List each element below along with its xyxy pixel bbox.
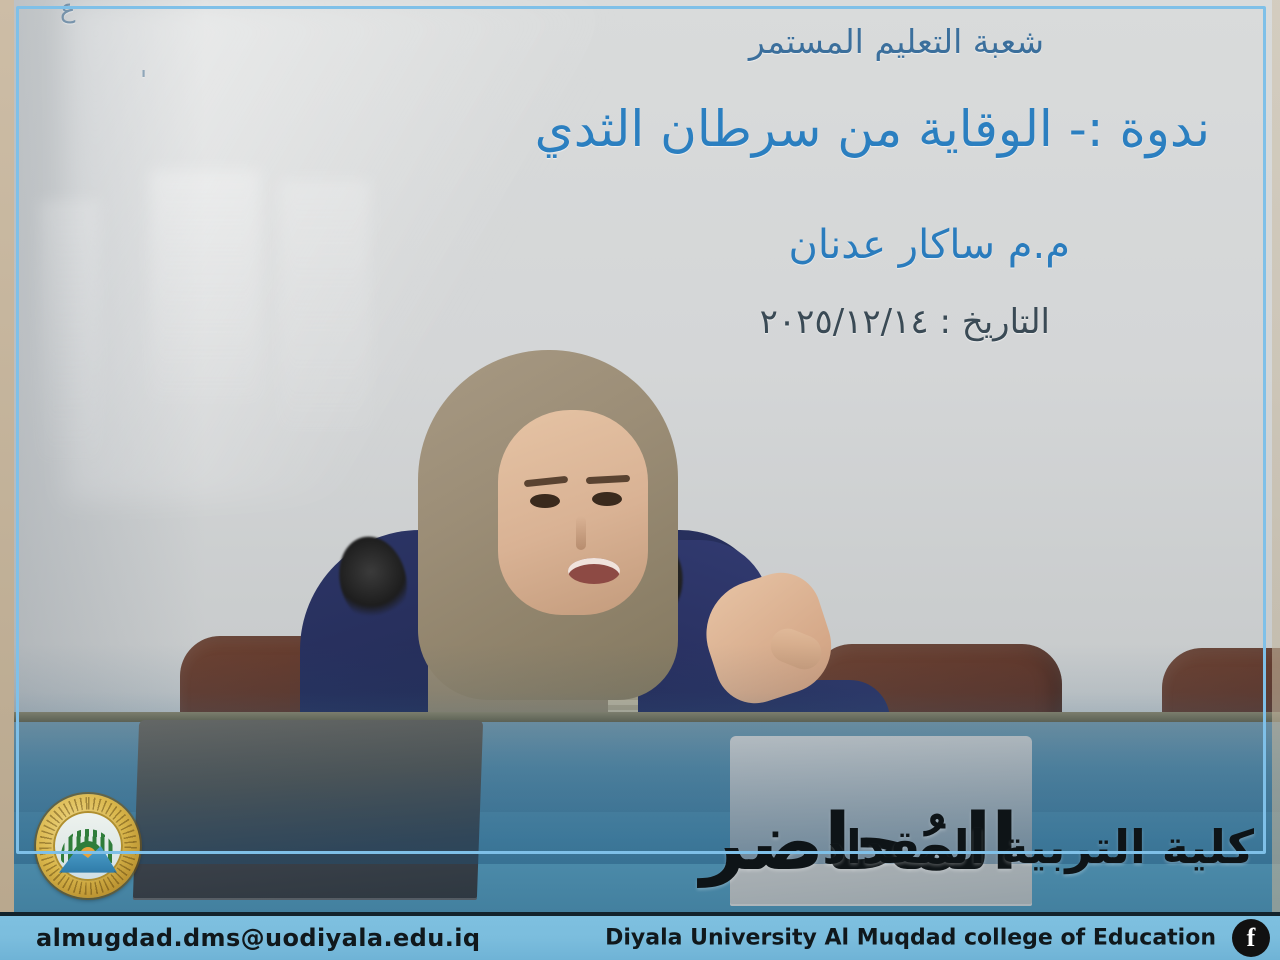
poster-left-margin [0,0,14,912]
facebook-icon[interactable]: f [1232,919,1270,957]
contact-email[interactable]: almugdad.dms@uodiyala.edu.iq [36,924,480,952]
institution-name: Diyala University Al Muqdad college of E… [605,926,1216,951]
board-lecturer-name: م.م ساكار عدنان [789,222,1070,268]
university-seal-logo [36,794,140,898]
eye-right [592,492,622,506]
event-photograph: ع ' شعبة التعليم المستمر ندوة :- الوقاية… [0,0,1280,912]
board-faint-tick: ' [140,66,147,96]
wall-reflection [150,170,260,400]
wall-reflection [40,200,100,460]
nose [576,516,586,550]
board-division-line: شعبة التعليم المستمر [749,22,1044,61]
facebook-glyph: f [1247,925,1256,951]
footer-bar: almugdad.dms@uodiyala.edu.iq Diyala Univ… [0,912,1280,960]
board-faint-mark: ع [60,0,76,24]
poster-right-margin [1272,0,1280,912]
event-poster: ع ' شعبة التعليم المستمر ندوة :- الوقاية… [0,0,1280,960]
board-seminar-title: ندوة :- الوقاية من سرطان الثدي [535,100,1210,158]
laptop-dark [133,720,483,900]
mouth [568,558,620,584]
face [498,410,648,615]
board-date-line: التاريخ : ٢٠٢٥/١٢/١٤ [760,302,1050,342]
eye-left [530,494,560,508]
seal-ring-lettering [39,797,137,895]
college-overlay-label: كلية التربية المقداد [822,820,1254,874]
